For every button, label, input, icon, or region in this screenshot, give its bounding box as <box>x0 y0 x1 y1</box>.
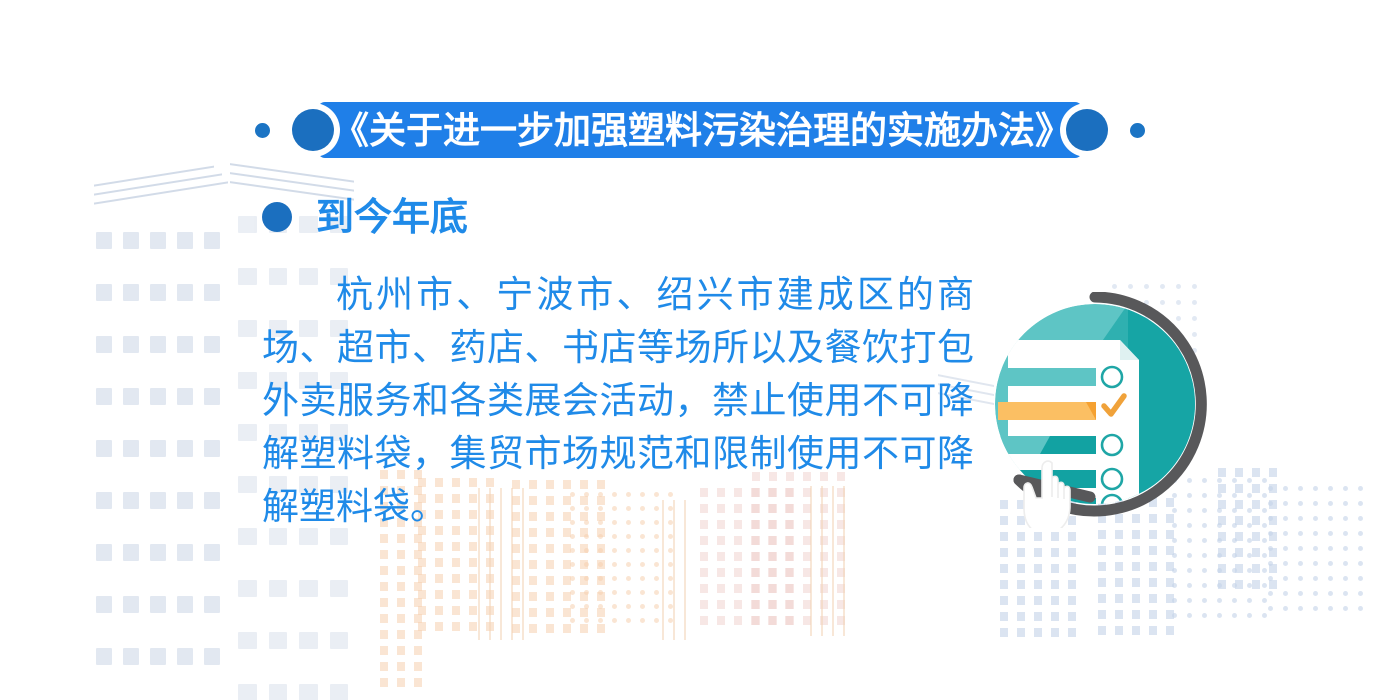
decorative-dot-large-right <box>1060 103 1114 157</box>
bullet-dot-icon <box>262 202 292 232</box>
checklist-circle-illustration <box>978 292 1212 528</box>
row-bar-2 <box>998 402 1096 420</box>
building-left-face <box>88 228 228 658</box>
title-banner: 《关于进一步加强塑料污染治理的实施办法》 <box>318 102 1082 158</box>
decorative-dot-small-right <box>1130 123 1145 138</box>
decorative-dot-large-left <box>286 103 340 157</box>
title-banner-row: 《关于进一步加强塑料污染治理的实施办法》 <box>0 96 1400 164</box>
page-title: 《关于进一步加强塑料污染治理的实施办法》 <box>332 112 1072 149</box>
row-bar-1 <box>1006 368 1096 386</box>
tower-roof-lines-left <box>94 163 228 211</box>
skyline-block-right-e <box>1218 468 1277 589</box>
dot-core-left <box>292 109 334 151</box>
decorative-dot-small-left <box>255 123 270 138</box>
poster-canvas: 《关于进一步加强塑料污染治理的实施办法》 到今年底 杭州市、宁波市、绍兴市建成区… <box>0 0 1400 700</box>
dot-core-right <box>1066 109 1108 151</box>
body-paragraph: 杭州市、宁波市、绍兴市建成区的商场、超市、药店、书店等场所以及餐饮打包外卖服务和… <box>262 268 974 533</box>
subtitle-row: 到今年底 <box>262 198 468 236</box>
skyline-block-right-d <box>1268 486 1363 611</box>
subtitle-text: 到今年底 <box>316 198 468 236</box>
